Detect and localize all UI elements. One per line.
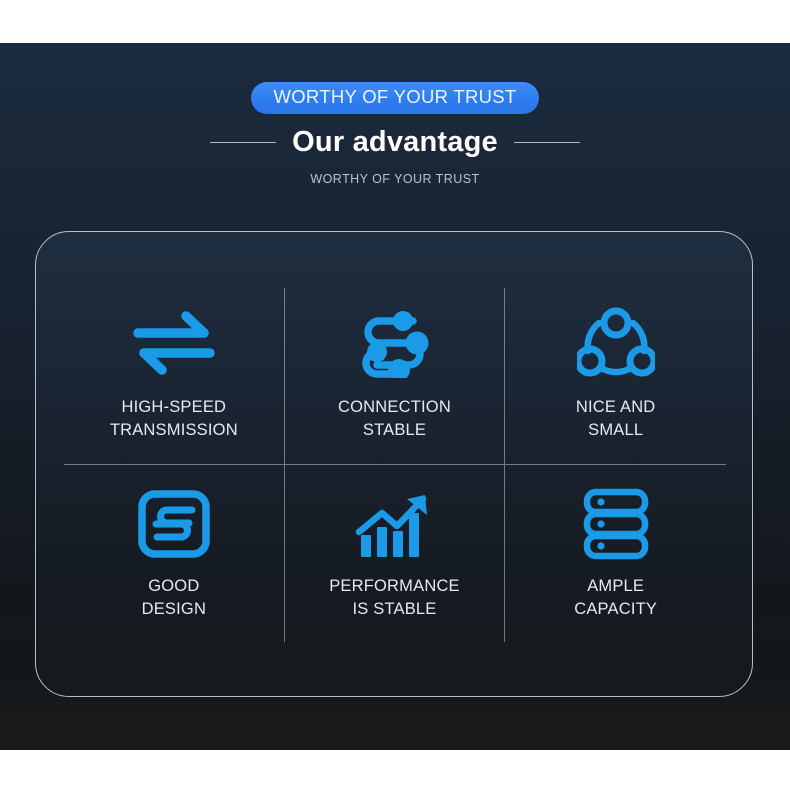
feature-cell-performance-is-stable: PERFORMANCE IS STABLE <box>285 465 506 642</box>
page-subtitle: WORTHY OF YOUR TRUST <box>0 172 790 186</box>
feature-label: AMPLE CAPACITY <box>574 575 657 621</box>
title-row: Our advantage <box>0 126 790 159</box>
feature-cell-nice-and-small: NICE AND SMALL <box>505 288 726 465</box>
feature-label: NICE AND SMALL <box>576 396 656 442</box>
features-grid: HIGH-SPEED TRANSMISSION <box>64 288 726 642</box>
page-title: Our advantage <box>292 126 498 159</box>
trust-badge: WORTHY OF YOUR TRUST <box>251 82 538 114</box>
feature-cell-connection-stable: CONNECTION STABLE <box>285 288 506 465</box>
header: WORTHY OF YOUR TRUST Our advantage WORTH… <box>0 43 790 186</box>
feature-label: HIGH-SPEED TRANSMISSION <box>110 396 238 442</box>
share-nodes-icon <box>577 300 655 386</box>
feature-label: CONNECTION STABLE <box>338 396 451 442</box>
dark-stage: WORTHY OF YOUR TRUST Our advantage WORTH… <box>0 43 790 750</box>
circuit-path-icon <box>351 300 437 386</box>
growth-chart-icon <box>353 483 435 565</box>
feature-label: PERFORMANCE IS STABLE <box>329 575 460 621</box>
promo-banner: WORTHY OF YOUR TRUST Our advantage WORTH… <box>0 0 790 790</box>
title-rule-left <box>210 142 276 143</box>
transfer-arrows-icon <box>130 300 218 386</box>
feature-label: GOOD DESIGN <box>142 575 206 621</box>
server-stack-icon <box>582 483 650 565</box>
features-card: HIGH-SPEED TRANSMISSION <box>35 231 753 697</box>
design-maze-icon <box>137 483 211 565</box>
feature-cell-good-design: GOOD DESIGN <box>64 465 285 642</box>
feature-cell-ample-capacity: AMPLE CAPACITY <box>505 465 726 642</box>
feature-cell-high-speed-transmission: HIGH-SPEED TRANSMISSION <box>64 288 285 465</box>
title-rule-right <box>514 142 580 143</box>
